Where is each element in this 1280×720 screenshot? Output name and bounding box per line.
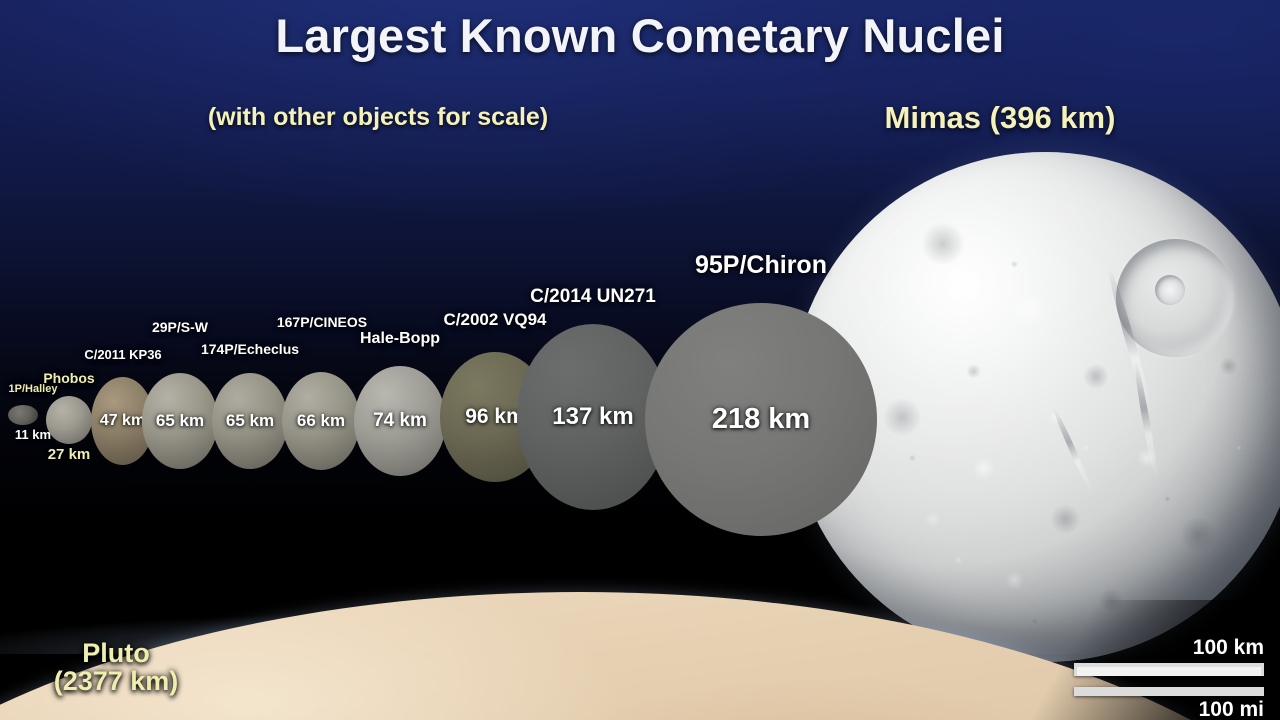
- body-167p-cineos: 167P/CINEOS66 km: [282, 372, 360, 470]
- scale-bar-km: 100 km: [1074, 636, 1264, 676]
- body-size-value: 74 km: [373, 410, 427, 432]
- scale-bar-km-graphic: [1074, 663, 1264, 676]
- body-size-value: 96 km: [465, 405, 525, 429]
- page-subtitle: (with other objects for scale): [58, 103, 698, 132]
- body-size-value: 47 km: [100, 412, 145, 430]
- body-size-value: 65 km: [156, 411, 204, 431]
- scale-bar-mi: 100 mi: [1074, 687, 1264, 720]
- body-label: 95P/Chiron: [659, 251, 863, 280]
- body-phobos: Phobos27 km: [46, 396, 92, 444]
- mimas-label: Mimas (396 km): [790, 100, 1210, 136]
- body-size-value: 218 km: [712, 403, 810, 436]
- body-label: Phobos: [35, 370, 103, 386]
- scale-bar-km-label: 100 km: [1074, 636, 1264, 660]
- body-1p-halley: 1P/Halley11 km: [8, 405, 38, 425]
- body-label: C/2011 KP36: [73, 347, 173, 362]
- pluto-name: Pluto: [82, 638, 150, 668]
- body-label: 167P/CINEOS: [270, 314, 374, 330]
- comparison-infographic: 1P/Halley11 kmPhobos27 kmC/2011 KP3647 k…: [0, 0, 1280, 720]
- body-95p-chiron: 95P/Chiron218 km: [645, 303, 877, 536]
- page-title: Largest Known Cometary Nuclei: [0, 8, 1280, 63]
- body-174p-echeclus: 174P/Echeclus65 km: [212, 373, 288, 469]
- body-label: C/2002 VQ94: [437, 310, 553, 330]
- body-size-value: 66 km: [297, 411, 345, 431]
- body-29p-s-w: 29P/S-W65 km: [142, 373, 218, 469]
- body-label: 174P/Echeclus: [198, 341, 302, 357]
- pluto-label: Pluto (2377 km): [26, 640, 206, 696]
- body-hale-bopp: Hale-Bopp74 km: [354, 366, 446, 476]
- body-size-value: 27 km: [35, 446, 103, 463]
- body-label: C/2014 UN271: [511, 286, 675, 308]
- body-size-value: 65 km: [226, 411, 274, 431]
- body-label: 29P/S-W: [142, 319, 218, 335]
- pluto-diameter: (2377 km): [26, 668, 206, 696]
- scale-bar-mi-graphic: [1074, 687, 1264, 696]
- body-label: Hale-Bopp: [354, 330, 446, 348]
- scale-bar-mi-label: 100 mi: [1074, 698, 1264, 720]
- body-size-value: 137 km: [552, 403, 633, 431]
